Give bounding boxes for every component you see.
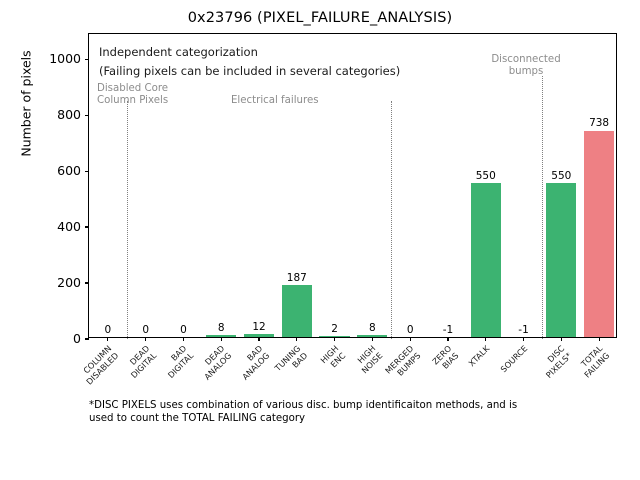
x-tick-mark-4 (258, 337, 259, 341)
y-tick-mark (85, 338, 89, 339)
disabled-core-column-pixels-divider (127, 101, 128, 339)
y-tick-label: 400 (57, 219, 81, 234)
y-tick-label: 1000 (49, 51, 81, 66)
bar-value-label-0: 0 (89, 324, 127, 336)
y-tick-mark (85, 282, 89, 283)
x-tick-mark-10 (485, 337, 486, 341)
bar-bad-analog[interactable] (244, 334, 274, 337)
annotation-independent-categorization: Independent categorization (99, 45, 258, 59)
x-tick-mark-2 (183, 337, 184, 341)
bar-value-label-11: -1 (505, 324, 543, 336)
bar-value-label-7: 8 (354, 322, 392, 334)
y-tick-label: 0 (73, 331, 81, 346)
y-tick-label: 800 (57, 107, 81, 122)
annotation-electrical-failures: Electrical failures (231, 95, 319, 107)
bar-xtalk[interactable] (471, 183, 501, 337)
x-tick-mark-9 (447, 337, 448, 341)
x-tick-mark-3 (221, 337, 222, 341)
bar-high-enc[interactable] (319, 336, 349, 337)
figure: 0x23796 (PIXEL_FAILURE_ANALYSIS) Number … (0, 0, 640, 480)
bar-value-label-3: 8 (202, 322, 240, 334)
x-tick-mark-7 (372, 337, 373, 341)
x-tick-mark-13 (599, 337, 600, 341)
bar-value-label-13: 738 (580, 117, 618, 129)
bar-value-label-10: 550 (467, 170, 505, 182)
y-tick-label: 200 (57, 275, 81, 290)
bar-total-failing[interactable] (584, 131, 614, 338)
bar-value-label-12: 550 (542, 170, 580, 182)
y-axis-label: Number of pixels (19, 24, 34, 184)
plot-area: 02004006008001000 000812187280-1550-1550… (88, 33, 617, 338)
x-tick-mark-11 (523, 337, 524, 341)
bar-value-label-6: 2 (316, 323, 354, 335)
x-tick-mark-1 (145, 337, 146, 341)
bar-dead-analog[interactable] (206, 335, 236, 337)
annotation-several-categories-note: (Failing pixels can be included in sever… (99, 64, 400, 78)
bar-value-label-4: 12 (240, 321, 278, 333)
annotation-disconnected-bumps-line1: Disconnected (471, 54, 581, 66)
disconnected-bumps-divider (542, 76, 543, 339)
y-tick-label: 600 (57, 163, 81, 178)
bar-value-label-2: 0 (165, 324, 203, 336)
annotation-disconnected-bumps-line2: bumps (471, 66, 581, 78)
bar-disc-pixels[interactable] (546, 183, 576, 337)
electrical-failures-divider (391, 101, 392, 339)
chart-title: 0x23796 (PIXEL_FAILURE_ANALYSIS) (0, 10, 640, 26)
annotation-electrical-failures-line1: Electrical failures (231, 95, 319, 107)
x-tick-mark-0 (107, 337, 108, 341)
bar-high-noise[interactable] (357, 335, 387, 337)
y-tick-mark (85, 59, 89, 60)
annotation-disabled-core-column-pixels: Disabled Core Column Pixels (97, 83, 168, 107)
y-tick-mark (85, 171, 89, 172)
footnote-line-2: used to count the TOTAL FAILING category (89, 413, 634, 426)
bar-value-label-9: -1 (429, 324, 467, 336)
annotation-disabled-core-line1: Disabled Core (97, 83, 168, 95)
y-tick-mark (85, 115, 89, 116)
annotation-disabled-core-line2: Column Pixels (97, 95, 168, 107)
y-tick-mark (85, 226, 89, 227)
x-tick-mark-12 (561, 337, 562, 341)
annotation-disconnected-bumps: Disconnected bumps (471, 54, 581, 78)
bar-value-label-5: 187 (278, 272, 316, 284)
bar-value-label-8: 0 (391, 324, 429, 336)
footnote-line-1: *DISC PIXELS uses combination of various… (89, 400, 634, 413)
x-tick-mark-8 (410, 337, 411, 341)
x-tick-mark-5 (296, 337, 297, 341)
bar-tuning-bad[interactable] (282, 285, 312, 337)
footnote: *DISC PIXELS uses combination of various… (89, 400, 634, 425)
x-tick-mark-6 (334, 337, 335, 341)
bar-value-label-1: 0 (127, 324, 165, 336)
